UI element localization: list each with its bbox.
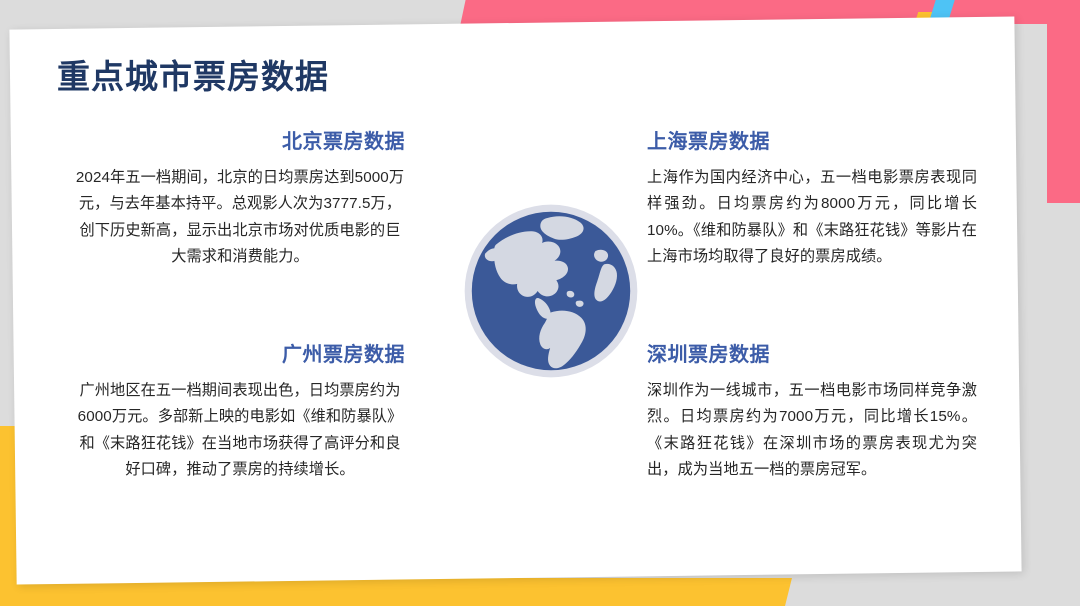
section-heading-beijing: 北京票房数据 (75, 130, 405, 154)
section-beijing: 北京票房数据 2024年五一档期间，北京的日均票房达到5000万元，与去年基本持… (75, 130, 405, 271)
section-heading-shanghai: 上海票房数据 (647, 130, 977, 154)
section-guangzhou: 广州票房数据 广州地区在五一档期间表现出色，日均票房约为6000万元。多部新上映… (75, 343, 405, 484)
section-shanghai: 上海票房数据 上海作为国内经济中心，五一档电影票房表现同样强劲。日均票房约为80… (647, 130, 977, 271)
section-body-shenzhen: 深圳作为一线城市，五一档电影市场同样竞争激烈。日均票房约为7000万元，同比增长… (647, 378, 977, 484)
section-body-guangzhou: 广州地区在五一档期间表现出色，日均票房约为6000万元。多部新上映的电影如《维和… (75, 378, 405, 484)
content-card: 重点城市票房数据 北京票房数据 2024年五一档期间，北京的日均票房达到5000… (9, 16, 1021, 584)
section-heading-shenzhen: 深圳票房数据 (647, 343, 977, 367)
page-title: 重点城市票房数据 (57, 50, 329, 98)
globe-americas-icon (462, 202, 640, 380)
pink-band-right (1047, 0, 1080, 203)
section-body-shanghai: 上海作为国内经济中心，五一档电影票房表现同样强劲。日均票房约为8000万元，同比… (647, 165, 977, 271)
section-heading-guangzhou: 广州票房数据 (75, 343, 405, 367)
section-body-beijing: 2024年五一档期间，北京的日均票房达到5000万元，与去年基本持平。总观影人次… (75, 165, 405, 271)
section-shenzhen: 深圳票房数据 深圳作为一线城市，五一档电影市场同样竞争激烈。日均票房约为7000… (647, 343, 977, 484)
slide-root: 重点城市票房数据 北京票房数据 2024年五一档期间，北京的日均票房达到5000… (0, 0, 1080, 606)
